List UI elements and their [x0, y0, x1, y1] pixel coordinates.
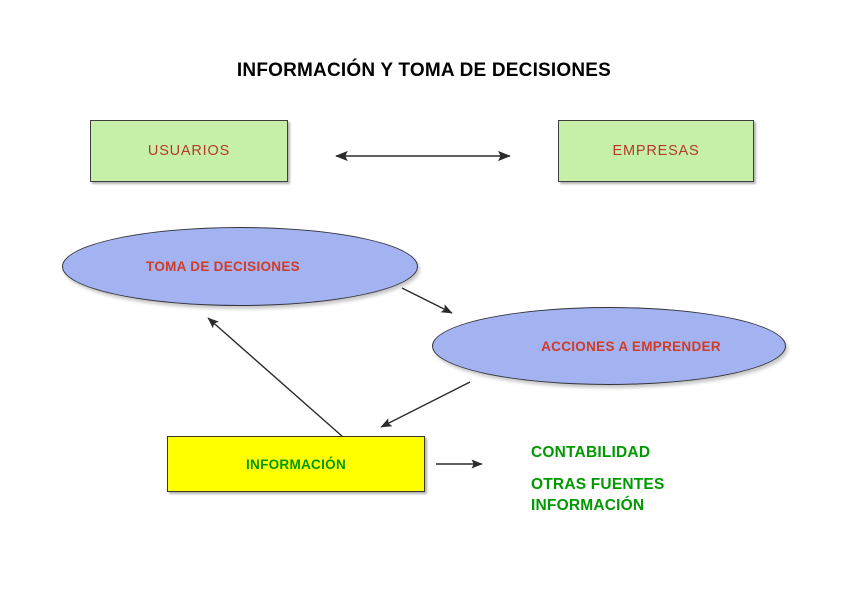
- node-empresas-label: EMPRESAS: [613, 143, 700, 159]
- node-empresas[interactable]: EMPRESAS: [558, 120, 754, 182]
- connector-layer: [0, 0, 848, 599]
- legend-otras-fuentes-informacion: OTRAS FUENTES INFORMACIÓN: [531, 474, 665, 516]
- diagram-canvas: INFORMACIÓN Y TOMA DE DECISIONES USUARIO…: [0, 0, 848, 599]
- connector-informacion-decisiones: [208, 318, 343, 437]
- node-usuarios-label: USUARIOS: [148, 143, 230, 159]
- node-acciones-a-emprender-label: ACCIONES A EMPRENDER: [541, 339, 721, 354]
- node-toma-de-decisiones[interactable]: TOMA DE DECISIONES: [62, 227, 418, 306]
- node-toma-de-decisiones-label: TOMA DE DECISIONES: [146, 259, 300, 274]
- node-acciones-a-emprender[interactable]: ACCIONES A EMPRENDER: [432, 307, 786, 385]
- node-informacion-label: INFORMACIÓN: [246, 457, 346, 472]
- page-title: INFORMACIÓN Y TOMA DE DECISIONES: [0, 60, 848, 82]
- connector-acciones-informacion: [381, 382, 470, 427]
- connector-decisiones-acciones: [402, 288, 452, 313]
- node-usuarios[interactable]: USUARIOS: [90, 120, 288, 182]
- legend-contabilidad: CONTABILIDAD: [531, 442, 650, 463]
- node-informacion[interactable]: INFORMACIÓN: [167, 436, 425, 492]
